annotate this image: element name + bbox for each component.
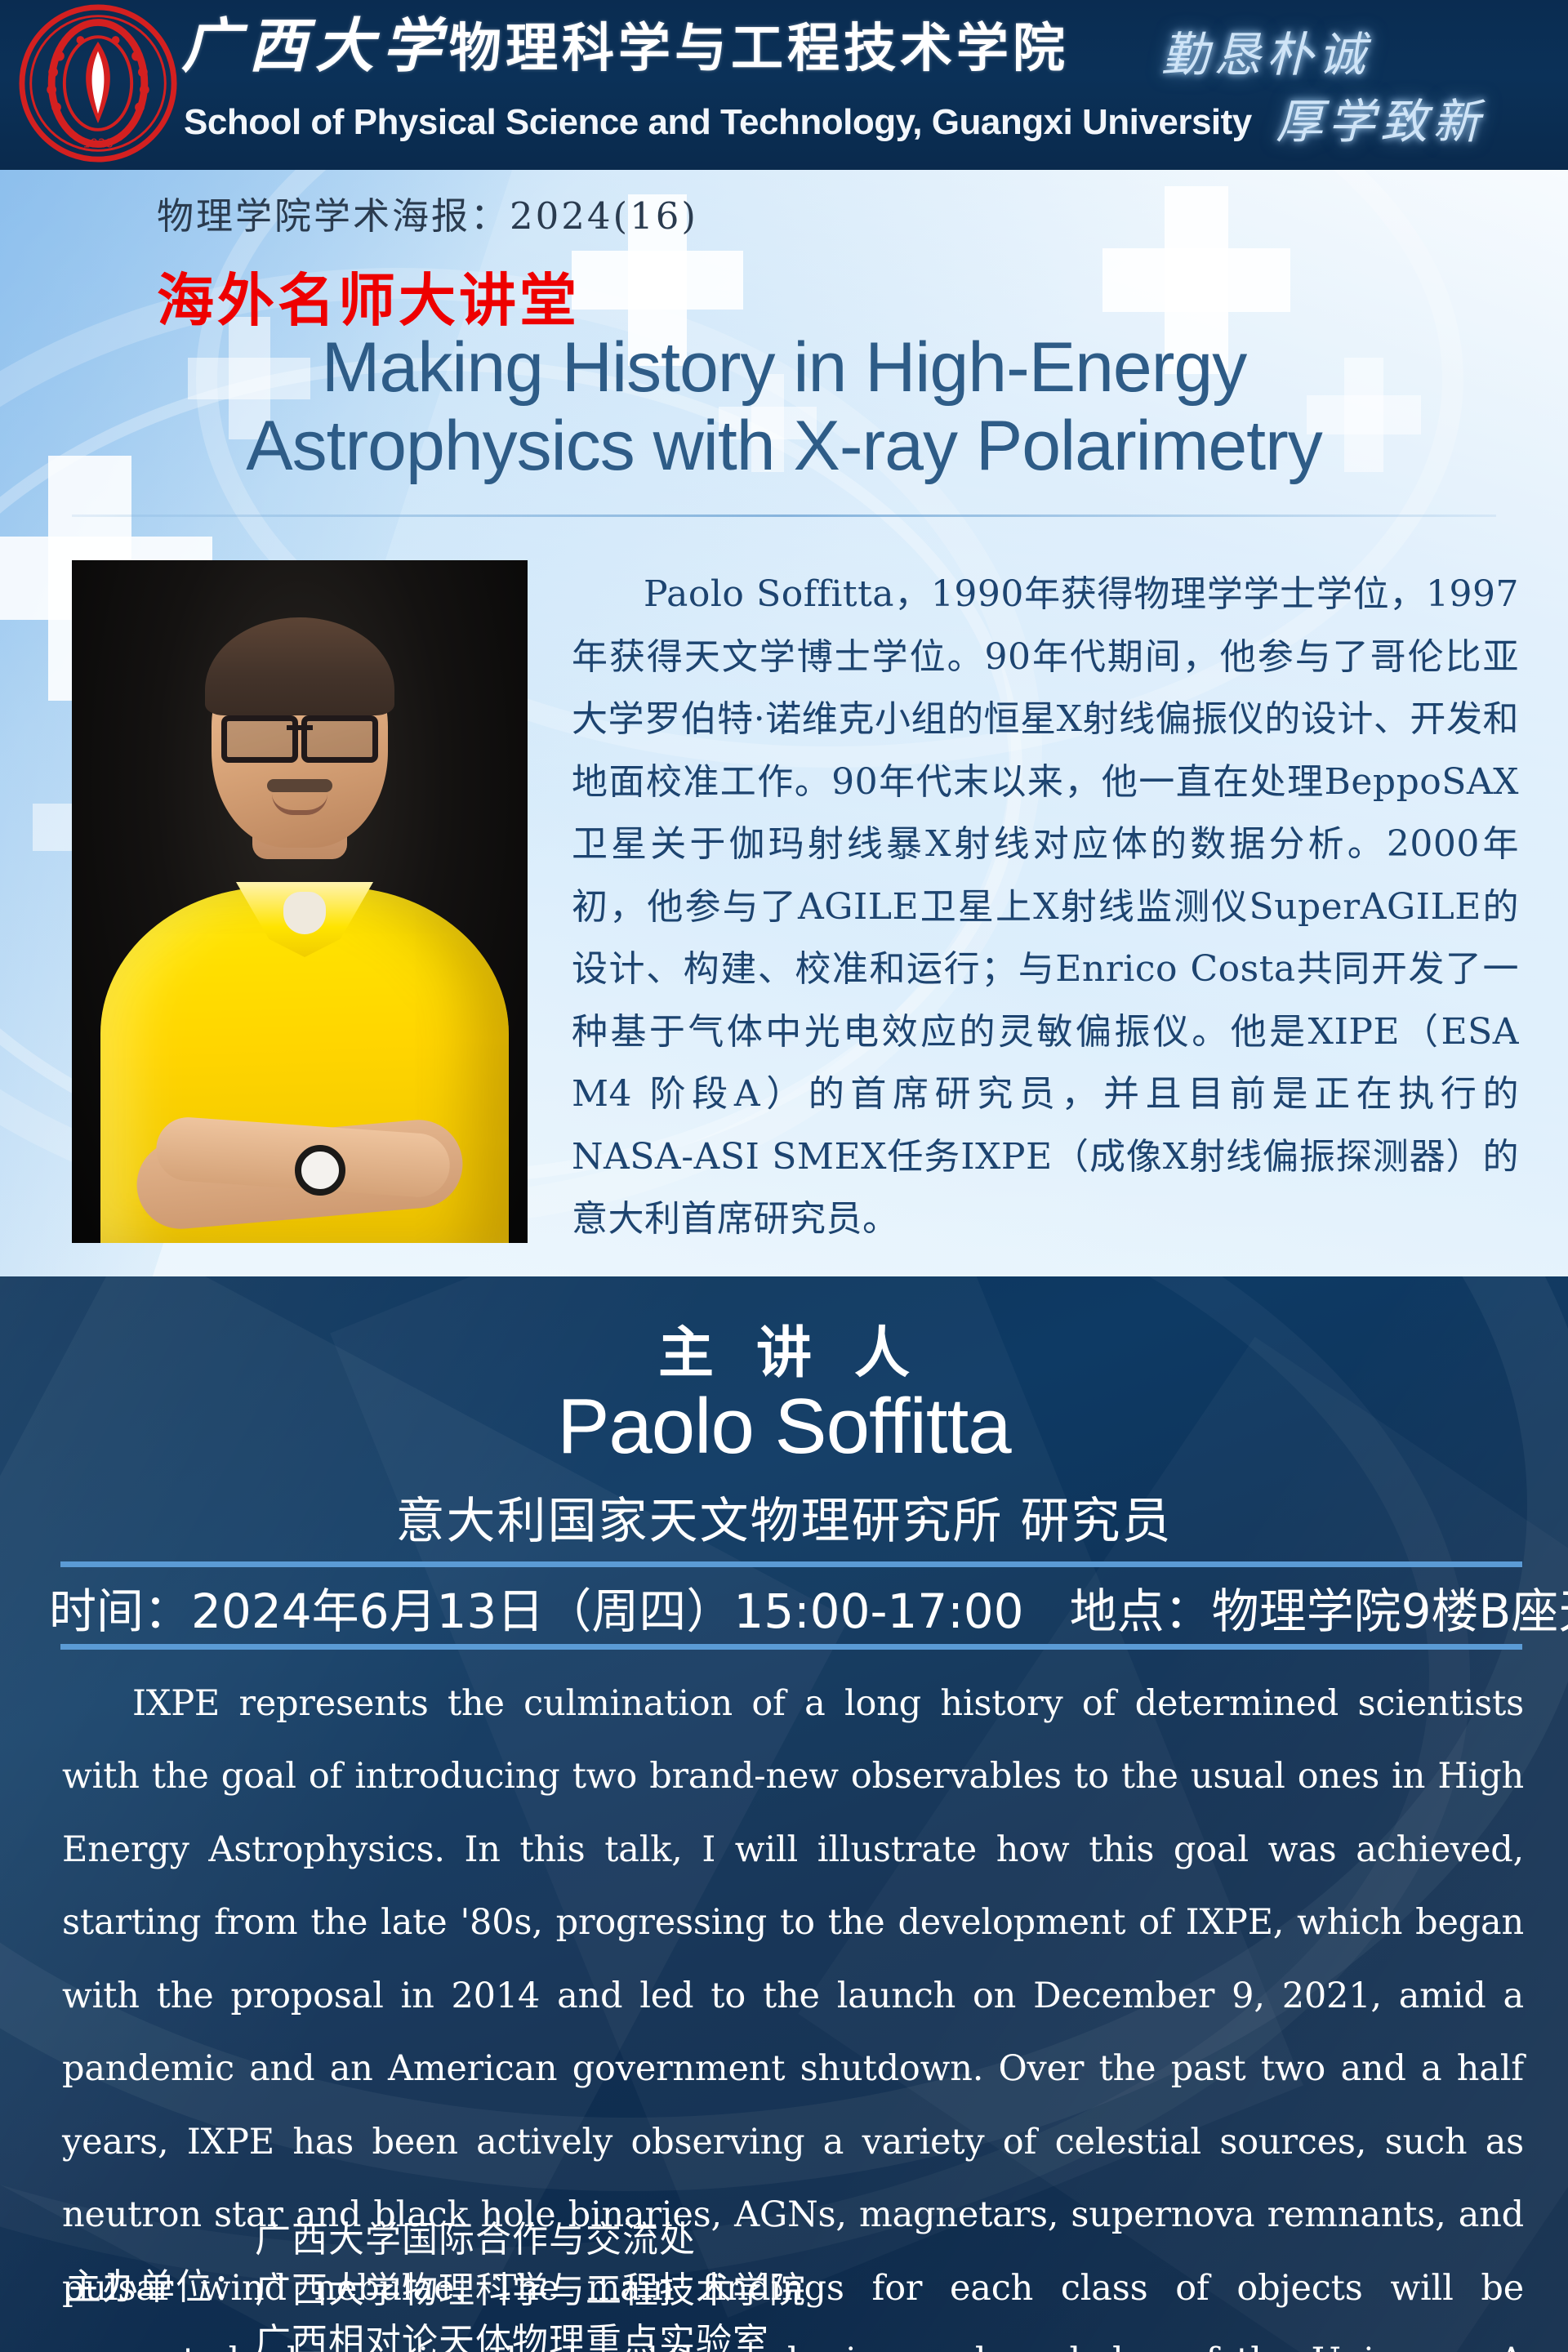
poster-header: 1928 广西大学物理科学与工程技术学院 School of Physical …: [0, 0, 1568, 170]
motto-line-2: 厚学致新: [1276, 83, 1485, 152]
organizer-item: 广西相对论天体物理重点实验室: [255, 2317, 1127, 2352]
organizers-label: 主办单位：: [65, 2215, 255, 2313]
title-line-2: Astrophysics with X-ray Polarimetry: [49, 407, 1519, 485]
photo-wristwatch: [295, 1145, 345, 1196]
event-place-value: 物理学院9楼B座天象馆: [1212, 1584, 1568, 1639]
organizers-block: 主办单位： 广西大学国际合作与交流处 广西大学物理科学与工程技术学院 广西相对论…: [65, 2215, 1127, 2352]
header-chinese-name: 广西大学物理科学与工程技术学院: [181, 16, 1069, 75]
event-time-label: 时间：: [49, 1584, 191, 1639]
event-time-value: 2024年6月13日（周四）15:00-17:00: [191, 1584, 1024, 1639]
speaker-photo: [72, 560, 528, 1243]
organizer-item: 广西大学国际合作与交流处: [255, 2215, 1127, 2265]
university-motto-calligraphy: 勤恳朴诚 厚学致新: [1153, 11, 1537, 158]
guangxi-university-seal-icon: 1928: [18, 3, 178, 163]
school-name-cn: 物理科学与工程技术学院: [449, 19, 1069, 79]
lecture-series-banner: 海外名师大讲堂: [157, 255, 580, 337]
speaker-name: Paolo Soffitta: [0, 1382, 1568, 1472]
organizers-list: 广西大学国际合作与交流处 广西大学物理科学与工程技术学院 广西相对论天体物理重点…: [255, 2215, 1127, 2352]
poster-series-number: 物理学院学术海报：2024(16): [157, 186, 698, 239]
university-name-cn: 广西大学: [181, 11, 449, 80]
organizer-item: 广西大学物理科学与工程技术学院: [255, 2265, 1127, 2316]
page-title: Making History in High-Energy Astrophysi…: [49, 328, 1519, 486]
svg-text:1928: 1928: [82, 136, 113, 150]
motto-line-1: 勤恳朴诚: [1161, 16, 1370, 85]
title-line-1: Making History in High-Energy: [49, 328, 1519, 407]
academic-poster: 1928 广西大学物理科学与工程技术学院 School of Physical …: [0, 0, 1568, 2352]
speaker-biography: Paolo Soffitta，1990年获得物理学学士学位，1997年获得天文学…: [572, 563, 1519, 1251]
event-place-label: 地点：: [1070, 1584, 1212, 1639]
photo-glasses: [221, 715, 378, 755]
speaker-affiliation: 意大利国家天文物理研究所 研究员: [0, 1481, 1568, 1552]
title-divider: [72, 514, 1496, 517]
event-divider-bottom: [60, 1644, 1522, 1650]
school-name-en: School of Physical Science and Technolog…: [184, 105, 1252, 140]
speaker-section-label: 主讲人: [0, 1307, 1568, 1388]
event-details: 时间：2024年6月13日（周四）15:00-17:00地点：物理学院9楼B座天…: [49, 1573, 1519, 1641]
event-divider-top: [60, 1561, 1522, 1567]
